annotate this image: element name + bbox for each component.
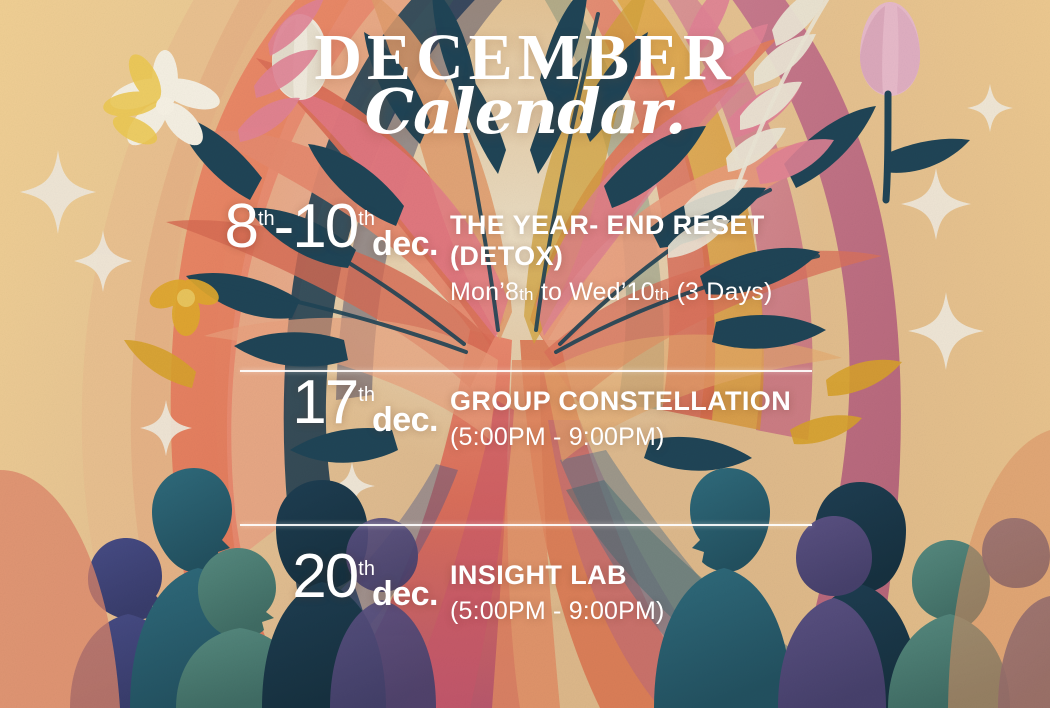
event-date: 8th-10thdec. [0, 196, 450, 258]
event-day-end: 10 [292, 192, 357, 261]
event-sub-prefix: Mon’8 [450, 278, 519, 306]
event-sub-suffix: (3 Days) [669, 278, 772, 306]
event-title-line1: INSIGHT LAB [450, 560, 1050, 591]
event-day-separator: - [274, 192, 293, 261]
event-subtitle: (5:00PM - 9:00PM) [450, 596, 1050, 626]
event-month: dec. [372, 225, 438, 263]
event-body: GROUP CONSTELLATION (5:00PM - 9:00PM) [450, 372, 1050, 452]
events-list: 8th-10thdec. THE YEAR- END RESET (DETOX)… [0, 196, 1050, 696]
event-title-line1: GROUP CONSTELLATION [450, 386, 1050, 417]
event-month: dec. [372, 575, 438, 613]
event-sub-ordinal-2: th [655, 285, 670, 304]
event-sub-mid: to Wed’10 [534, 278, 655, 306]
event-item[interactable]: 17thdec. GROUP CONSTELLATION (5:00PM - 9… [0, 356, 1050, 526]
title-calendar: Calendar. [0, 75, 1050, 148]
event-sub-ordinal-1: th [519, 285, 534, 304]
event-month: dec. [372, 401, 438, 439]
event-body: INSIGHT LAB (5:00PM - 9:00PM) [450, 546, 1050, 626]
event-subtitle: (5:00PM - 9:00PM) [450, 422, 1050, 452]
event-day-start: 8 [224, 192, 256, 261]
poster-title: DECEMBER Calendar. [0, 26, 1050, 148]
event-date: 17thdec. [0, 372, 450, 434]
event-body: THE YEAR- END RESET (DETOX) Mon’8th to W… [450, 196, 1050, 307]
event-day: 20 [292, 542, 357, 611]
calendar-poster: DECEMBER Calendar. 8th-10thdec. THE YEAR… [0, 0, 1050, 708]
event-date: 20thdec. [0, 546, 450, 608]
event-day-start-ordinal: th [258, 208, 275, 230]
event-day: 17 [292, 368, 357, 437]
event-title-line2: (DETOX) [450, 241, 1050, 272]
event-item[interactable]: 20thdec. INSIGHT LAB (5:00PM - 9:00PM) [0, 526, 1050, 696]
event-subtitle: Mon’8th to Wed’10th (3 Days) [450, 277, 1050, 307]
event-title-line1: THE YEAR- END RESET [450, 210, 1050, 241]
event-item[interactable]: 8th-10thdec. THE YEAR- END RESET (DETOX)… [0, 196, 1050, 356]
